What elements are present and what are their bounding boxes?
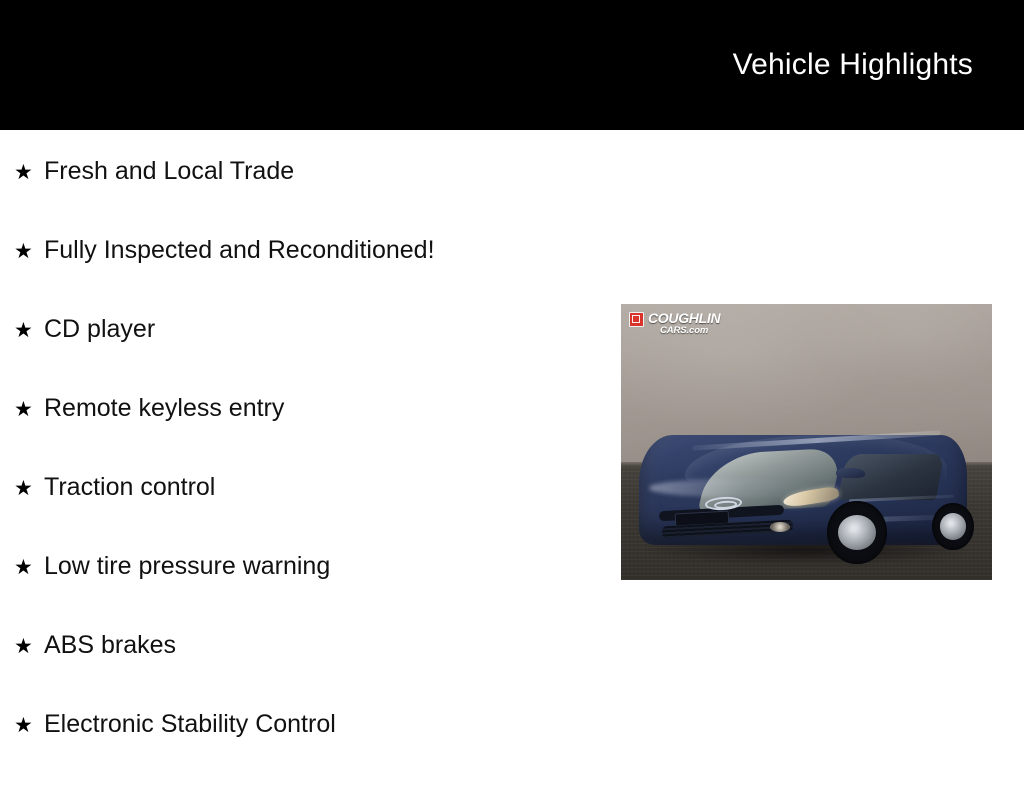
list-item: ★ Electronic Stability Control [0,711,600,790]
watermark-text: COUGHLIN CARS.com [648,311,720,336]
highlight-label: Fully Inspected and Reconditioned! [44,237,435,263]
vehicle-photo: COUGHLIN CARS.com [621,304,992,580]
header-band: Vehicle Highlights [0,0,1024,130]
car-side-mirror [836,468,866,478]
highlight-label: Fresh and Local Trade [44,158,294,184]
car-front-rim [838,515,876,551]
page-title: Vehicle Highlights [733,48,973,82]
car-body [639,435,967,545]
watermark-line-1: COUGHLIN [648,311,720,325]
star-bullet-icon: ★ [14,318,44,344]
car-rear-rim [940,513,967,540]
star-bullet-icon: ★ [14,160,44,186]
star-bullet-icon: ★ [14,634,44,660]
highlight-label: ABS brakes [44,632,176,658]
coughlin-logo-icon [629,312,644,327]
car-front-wheel [827,501,886,565]
star-bullet-icon: ★ [14,713,44,739]
watermark-line-2: CARS.com [648,326,720,336]
list-item: ★ Remote keyless entry [0,395,600,474]
list-item: ★ CD player [0,316,600,395]
highlight-label: Low tire pressure warning [44,553,330,579]
car-illustration [632,390,981,567]
list-item: ★ Low tire pressure warning [0,553,600,632]
highlight-label: Remote keyless entry [44,395,284,421]
car-fog-light [770,522,790,532]
car-rear-wheel [932,503,974,551]
highlight-label: CD player [44,316,155,342]
list-item: ★ Fresh and Local Trade [0,130,600,237]
list-item: ★ ABS brakes [0,632,600,711]
star-bullet-icon: ★ [14,397,44,423]
star-bullet-icon: ★ [14,476,44,502]
highlight-label: Traction control [44,474,215,500]
list-item: ★ Traction control [0,474,600,553]
highlight-label: Electronic Stability Control [44,711,336,737]
star-bullet-icon: ★ [14,555,44,581]
dealer-watermark: COUGHLIN CARS.com [629,311,720,336]
star-bullet-icon: ★ [14,239,44,265]
vehicle-highlights-list: ★ Fresh and Local Trade ★ Fully Inspecte… [0,130,600,790]
list-item: ★ Fully Inspected and Reconditioned! [0,237,600,316]
